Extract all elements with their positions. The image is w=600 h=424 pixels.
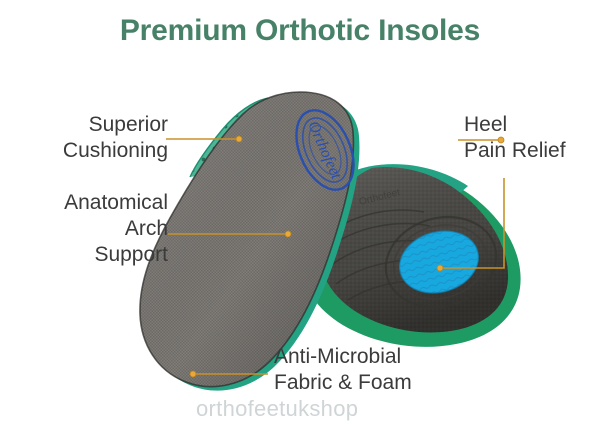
callout-line-2: Pain Relief bbox=[464, 138, 566, 164]
insole-infographic: Premium Orthotic Insoles bbox=[0, 0, 600, 424]
callout-line-2: Fabric & Foam bbox=[274, 370, 412, 396]
watermark: orthofeetukshop bbox=[196, 396, 358, 422]
callout-line-3: Support bbox=[64, 242, 168, 268]
callout-superior-cushioning: Superior Cushioning bbox=[63, 112, 168, 164]
callout-anti-microbial-fabric-foam: Anti-Microbial Fabric & Foam bbox=[274, 344, 412, 396]
callout-line-2: Cushioning bbox=[63, 138, 168, 164]
callout-line-1: Anti-Microbial bbox=[274, 344, 412, 370]
callout-line-1: Anatomical bbox=[64, 190, 168, 216]
callout-line-2: Arch bbox=[64, 216, 168, 242]
callout-line-1: Heel bbox=[464, 112, 566, 138]
callout-heel-pain-relief: Heel Pain Relief bbox=[464, 112, 566, 164]
callout-line-1: Superior bbox=[63, 112, 168, 138]
callout-anatomical-arch-support: Anatomical Arch Support bbox=[64, 190, 168, 268]
